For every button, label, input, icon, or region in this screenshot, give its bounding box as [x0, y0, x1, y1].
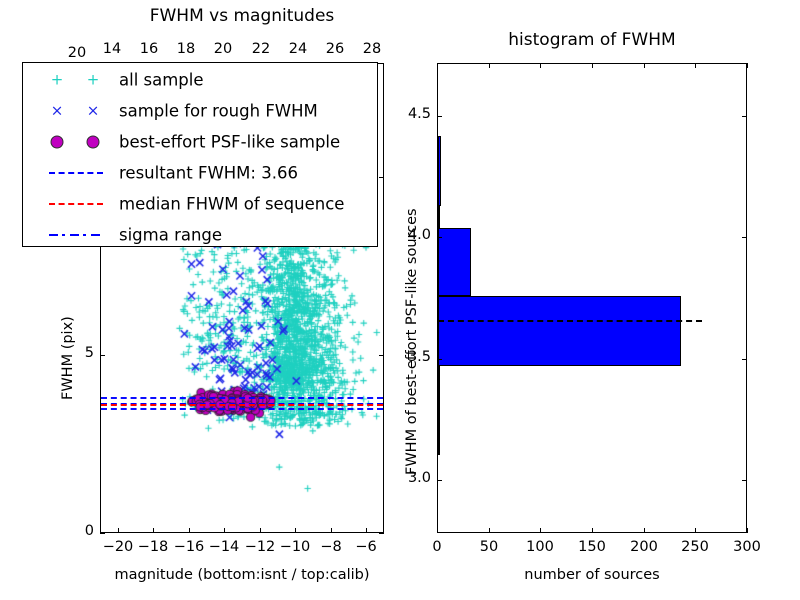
axis-tick [747, 63, 748, 68]
axis-tick [644, 528, 645, 533]
circle-marker [87, 136, 100, 149]
axis-tick [437, 359, 442, 360]
axis-tick [379, 177, 384, 178]
plus-marker: + [51, 74, 64, 87]
histogram-title: histogram of FWHM [437, 30, 747, 50]
legend-item-1[interactable]: sample for rough FWHM×× [23, 96, 377, 127]
histogram-bar [438, 434, 440, 456]
legend-item-label: median FHWM of sequence [119, 194, 344, 213]
scatter-xtick-label: −6 [326, 539, 406, 555]
axis-tick [118, 528, 119, 533]
axis-tick [644, 63, 645, 68]
axis-tick [540, 528, 541, 533]
legend-item-label: sigma range [119, 225, 222, 244]
axis-tick [331, 528, 332, 533]
histogram-bar [438, 206, 440, 228]
axis-tick [695, 528, 696, 533]
axis-tick [100, 355, 105, 356]
histogram-bar [438, 228, 471, 296]
histogram-bar [438, 366, 440, 434]
axis-tick [224, 528, 225, 533]
scatter-sigma-range-upper-line [101, 397, 383, 399]
scatter-xlabel: magnitude (bottom:isnt / top:calib) [85, 567, 399, 583]
scatter-sigma-range-lower-line [101, 408, 383, 410]
axis-tick [742, 480, 747, 481]
axis-tick [742, 359, 747, 360]
legend-item-label: best-effort PSF-like sample [119, 133, 340, 152]
axis-tick [489, 63, 490, 68]
axis-tick [437, 63, 438, 68]
dashed-line [49, 203, 103, 205]
legend-item-4[interactable]: median FHWM of sequence [23, 188, 377, 219]
legend-item-2[interactable]: best-effort PSF-like sample [23, 127, 377, 158]
cross-marker: × [87, 105, 100, 118]
circle-marker [51, 136, 64, 149]
axis-tick [695, 63, 696, 68]
axis-tick [437, 237, 442, 238]
axis-tick [189, 528, 190, 533]
histogram-bar [438, 136, 441, 206]
axis-tick [437, 480, 442, 481]
histogram-xlabel: number of sources [470, 567, 714, 583]
histogram-bar [438, 296, 681, 366]
axis-tick [747, 528, 748, 533]
scatter-ytick-label: 0 [62, 523, 94, 539]
axis-tick [437, 528, 438, 533]
axis-tick [100, 533, 105, 534]
legend[interactable]: all sample++sample for rough FWHM××best-… [22, 62, 378, 247]
median-line [438, 320, 702, 322]
legend-item-label: sample for rough FWHM [119, 102, 318, 121]
axis-tick [489, 528, 490, 533]
scatter-ytick-label: 5 [62, 345, 94, 361]
axis-tick [592, 63, 593, 68]
dashed-line [49, 172, 103, 174]
legend-item-label: resultant FWHM: 3.66 [119, 163, 298, 182]
legend-item-3[interactable]: resultant FWHM: 3.66 [23, 158, 377, 189]
axis-tick [437, 116, 442, 117]
figure-canvas: FWHM vs magnitudes 1416182022242628 20 −… [0, 0, 800, 600]
axis-tick [742, 237, 747, 238]
axis-tick [379, 533, 384, 534]
plus-marker: + [87, 74, 100, 87]
axis-tick [366, 528, 367, 533]
histogram-ytick-label: 4.5 [397, 106, 431, 122]
axis-tick [379, 355, 384, 356]
legend-item-0[interactable]: all sample++ [23, 65, 377, 96]
cross-marker: × [51, 105, 64, 118]
histogram-ylabel: FWHM of best-effort PSF-like sources [404, 208, 420, 475]
axis-tick [260, 528, 261, 533]
axis-tick [295, 528, 296, 533]
axis-tick [540, 63, 541, 68]
axis-tick [592, 528, 593, 533]
axis-tick [153, 528, 154, 533]
dash-dot-line [49, 234, 103, 236]
scatter-median-fhwm-line [101, 404, 383, 406]
legend-item-5[interactable]: sigma range [23, 219, 377, 250]
histogram-xtick-label: 300 [707, 539, 787, 555]
axis-tick [742, 116, 747, 117]
legend-item-label: all sample [119, 71, 204, 90]
